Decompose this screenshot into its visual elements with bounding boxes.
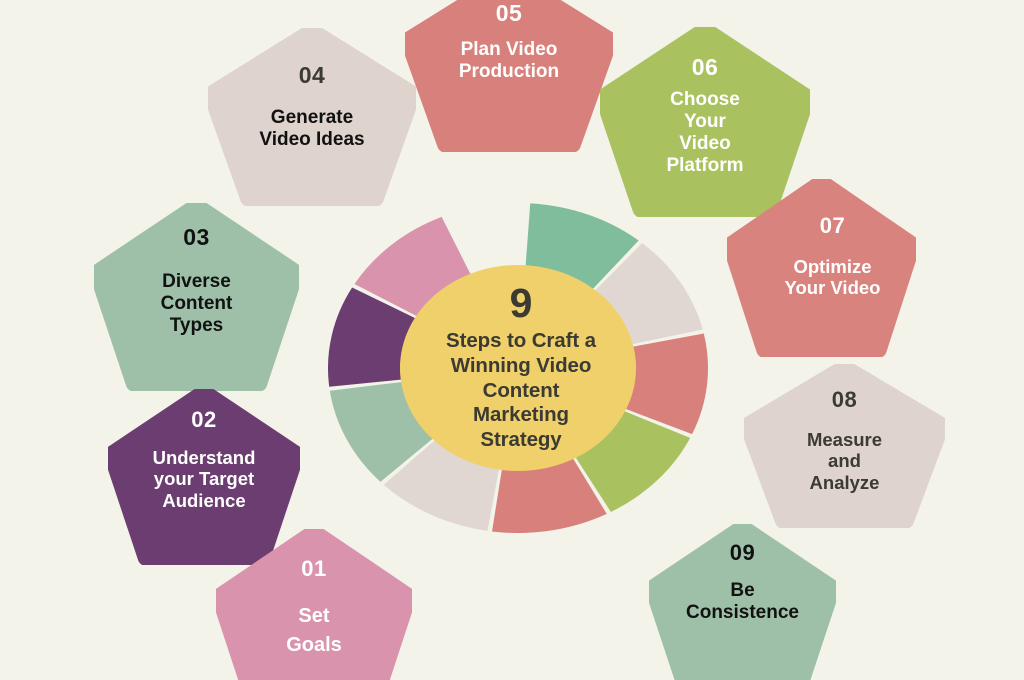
step-pentagon-04[interactable]: 04 Generate Video Ideas <box>208 28 416 206</box>
step-number-04: 04 <box>299 64 326 87</box>
step-number-03: 03 <box>183 226 210 249</box>
step-number-09: 09 <box>730 542 755 564</box>
step-pentagon-08[interactable]: 08 Measure and Analyze <box>744 364 945 528</box>
step-label-03: Diverse Content Types <box>161 271 233 337</box>
step-label-06: Choose Your Video Platform <box>666 89 743 177</box>
step-number-05: 05 <box>496 2 523 25</box>
donut-chart <box>328 203 708 533</box>
step-pentagon-01[interactable]: 01 Set Goals <box>216 529 412 680</box>
step-number-06: 06 <box>692 56 719 79</box>
infographic-canvas: 04 Generate Video Ideas 05 Plan Video Pr… <box>0 0 1024 680</box>
step-number-08: 08 <box>832 389 857 411</box>
step-label-07: Optimize Your Video <box>748 256 918 299</box>
step-label-04: Generate Video Ideas <box>259 107 364 151</box>
step-pentagon-09[interactable]: 09 Be Consistence <box>649 524 836 680</box>
step-pentagon-05[interactable]: 05 Plan Video Production <box>405 0 613 152</box>
center-disc <box>400 265 636 471</box>
step-label-02: Understand your Target Audience <box>153 447 256 511</box>
step-label-01: Set Goals <box>286 602 342 660</box>
step-number-01: 01 <box>301 558 326 580</box>
step-pentagon-03[interactable]: 03 Diverse Content Types <box>94 203 299 391</box>
step-label-08: Measure and Analyze <box>807 429 882 493</box>
step-number-07: 07 <box>820 215 845 237</box>
step-pentagon-07[interactable]: 07 Optimize Your Video <box>727 179 916 357</box>
step-number-02: 02 <box>191 409 216 431</box>
step-label-09: Be Consistence <box>686 580 799 624</box>
step-label-05: Plan Video Production <box>459 39 559 83</box>
